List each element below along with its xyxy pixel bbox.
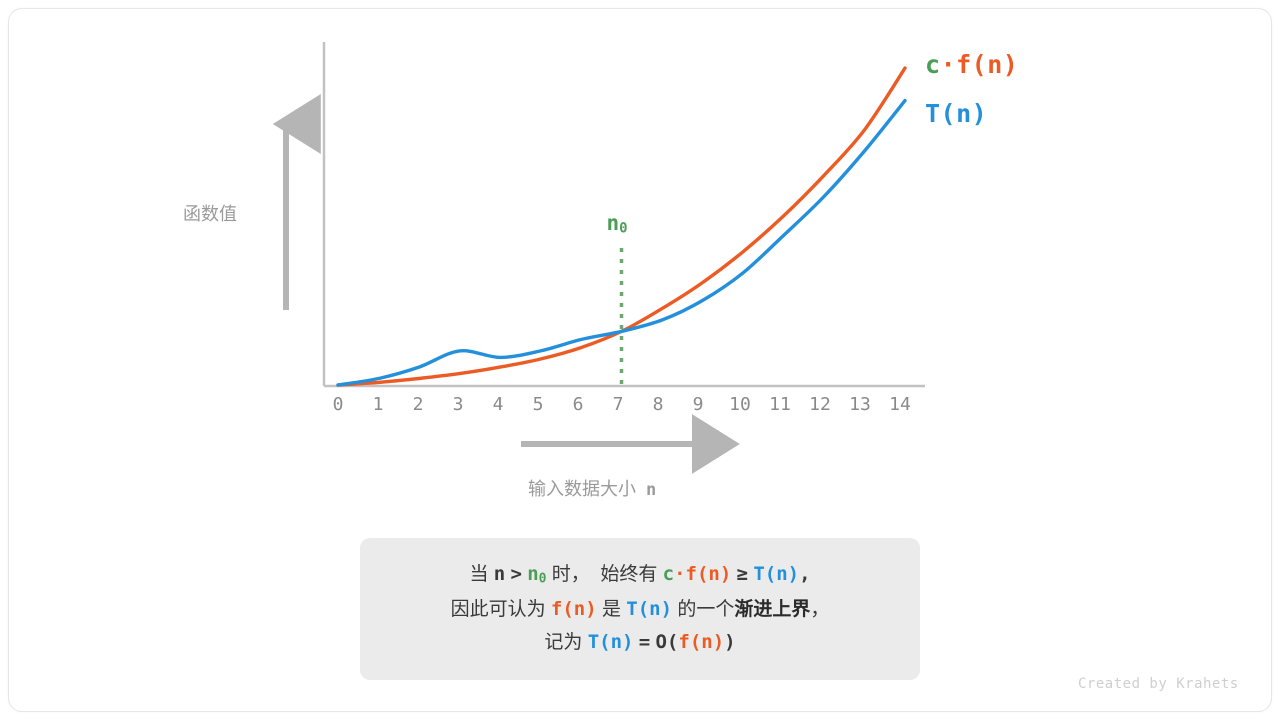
x-tick-3: 3 [438,394,478,415]
caption-l3-close: ) [724,631,735,653]
x-tick-13: 13 [840,394,880,415]
label-c: c [925,50,941,79]
x-tick-0: 0 [318,394,358,415]
caption-l1-t3: 始终有 [600,564,657,585]
caption-l1-tn: T(n) [753,563,799,585]
x-axis-label-var: n [646,480,656,500]
caption-l2-t1: 因此可认为 [451,599,546,620]
x-tick-8: 8 [638,394,678,415]
x-tick-2: 2 [398,394,438,415]
x-axis-label: 输入数据大小 n [528,475,656,501]
caption-l1-fn: f(n) [686,563,732,585]
x-tick-5: 5 [518,394,558,415]
x-tick-11: 11 [760,394,800,415]
caption-line-3: 记为 T(n) = O(f(n)) [544,629,735,657]
caption-l2-t2: 是 [602,599,621,620]
caption-l1-t1: 当 [469,564,488,585]
caption-l3-bigo: O( [655,631,678,653]
n0-subscript: 0 [619,221,627,237]
x-tick-4: 4 [478,394,518,415]
caption-l2-fn: f(n) [551,598,597,620]
curve-t-n [338,101,905,385]
caption-l1-n: n [494,563,505,585]
label-dot: · [941,50,957,79]
caption-line-2: 因此可认为 f(n) 是 T(n) 的一个渐进上界， [451,596,830,624]
x-tick-14: 14 [880,394,920,415]
curve-label-t-n: T(n) [925,99,987,128]
caption-l1-gt: > [510,563,521,585]
caption-l2-comma: ， [810,599,829,620]
n0-annotation-label: n0 [607,211,628,237]
caption-l2-t3: 的一个 [677,599,734,620]
x-tick-7: 7 [598,394,638,415]
x-tick-1: 1 [358,394,398,415]
x-tick-9: 9 [678,394,718,415]
caption-l2-bold: 渐进上界 [734,599,810,620]
credit-text: Created by Krahets [1078,676,1239,692]
caption-l1-dot: · [674,563,685,585]
label-fn: f(n) [956,50,1018,79]
n0-letter: n [607,211,620,235]
x-axis-label-text: 输入数据大小 [528,479,636,499]
y-axis-label: 函数值 [183,200,237,226]
caption-l1-ge: ≥ [737,563,748,585]
caption-l1-comma: , [799,563,810,585]
caption-l1-t2: 时， [552,564,590,585]
x-tick-10: 10 [720,394,760,415]
caption-l3-eq: = [639,631,650,653]
x-tick-12: 12 [800,394,840,415]
caption-l1-c: c [663,563,674,585]
caption-line-1: 当 n > n0 时， 始终有 c·f(n) ≥ T(n), [469,561,810,589]
caption-l3-fn: f(n) [678,631,724,653]
caption-l3-t1: 记为 [544,632,582,653]
x-tick-6: 6 [558,394,598,415]
caption-box: 当 n > n0 时， 始终有 c·f(n) ≥ T(n), 因此可认为 f(n… [360,538,920,680]
caption-l3-tn: T(n) [588,631,634,653]
curve-label-c-f-n: c·f(n) [925,50,1018,79]
caption-l2-tn: T(n) [626,598,672,620]
caption-l1-n0: n0 [527,563,546,585]
